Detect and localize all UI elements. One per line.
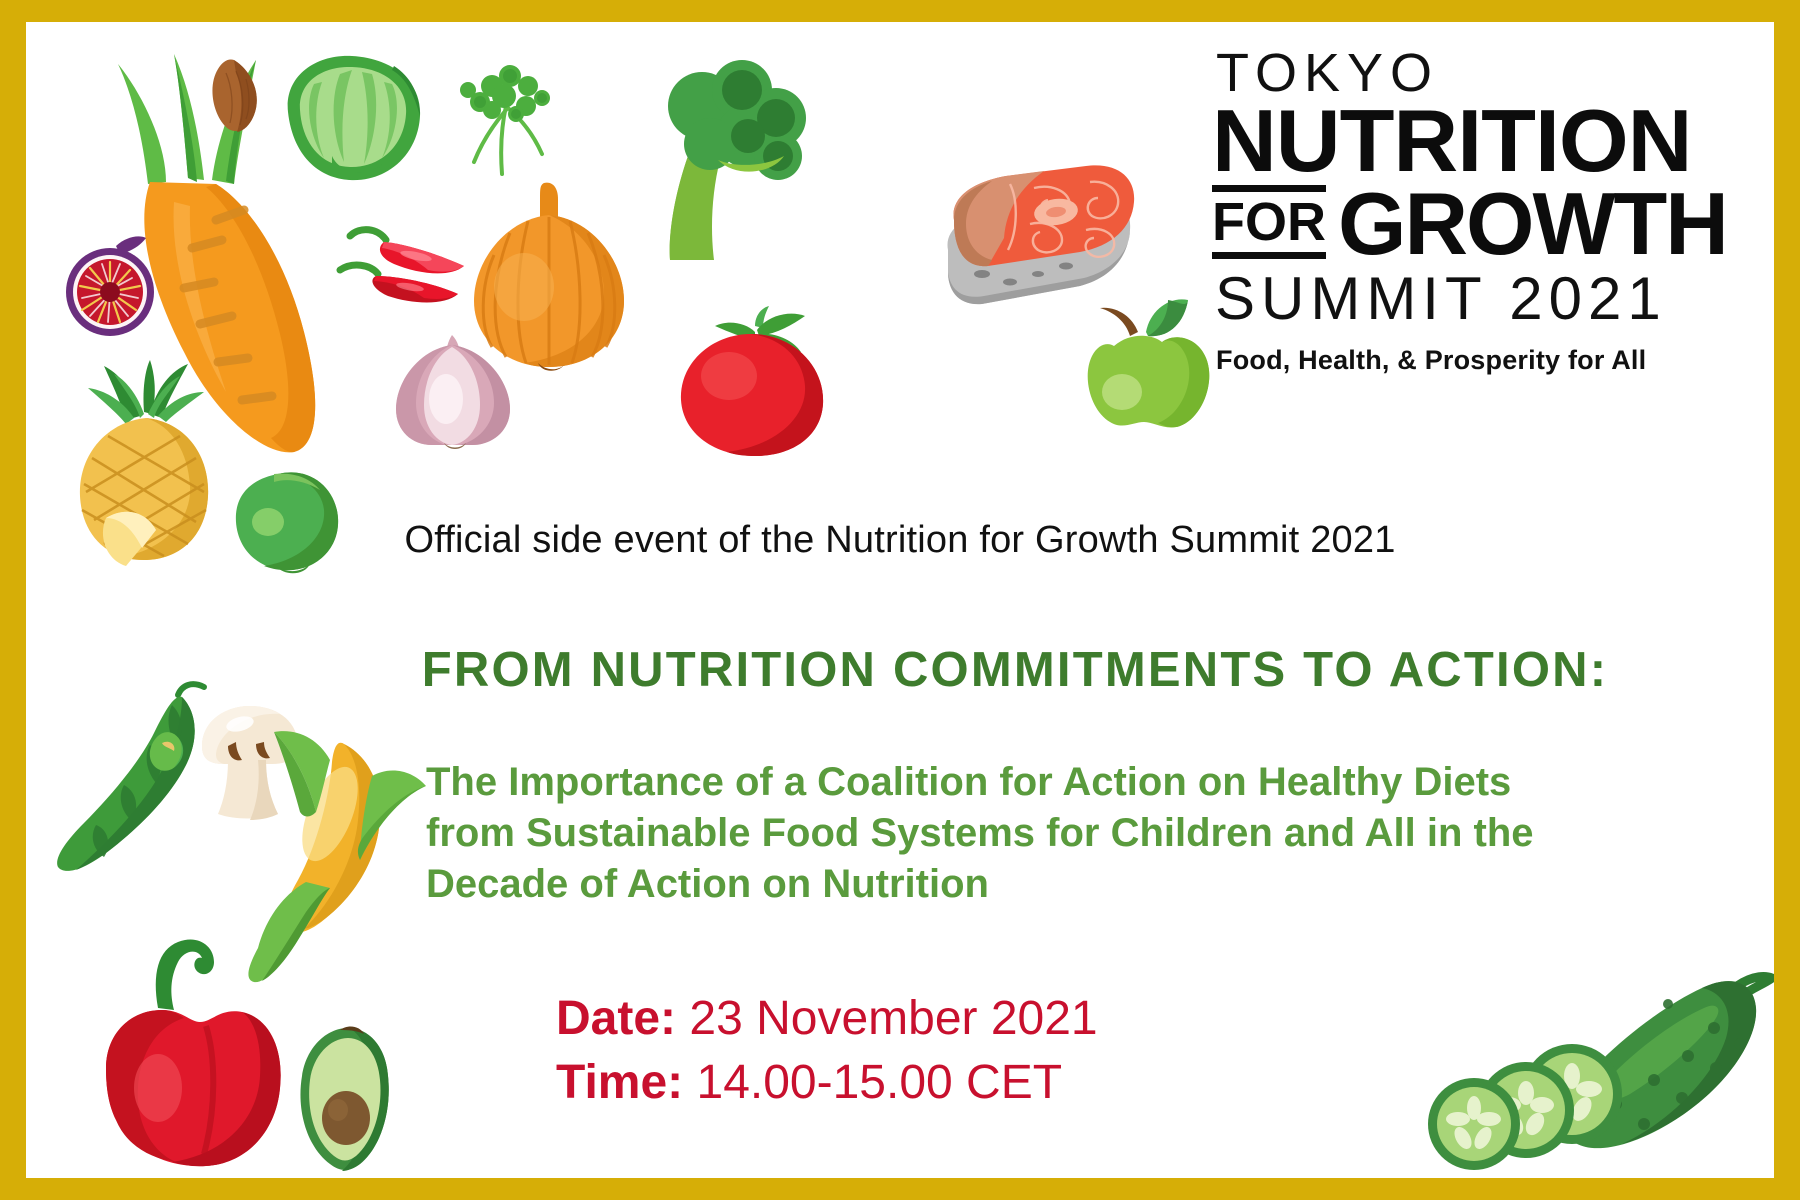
red-bell-pepper-illustration bbox=[66, 930, 296, 1170]
logo-bar-bottom bbox=[1212, 252, 1326, 259]
poster-canvas: TOKYO NUTRITION FOR GROWTH SUMMIT 2021 F… bbox=[26, 22, 1774, 1178]
description-line-3: Decade of Action on Nutrition bbox=[426, 859, 1586, 910]
logo-for-growth-row: FOR GROWTH bbox=[1212, 184, 1732, 263]
cabbage-illustration bbox=[274, 50, 429, 190]
broccoli-illustration bbox=[626, 60, 816, 270]
description-line-1: The Importance of a Coalition for Action… bbox=[426, 757, 1586, 808]
logo-for-text: FOR bbox=[1212, 192, 1326, 252]
avocado-half-illustration bbox=[288, 1022, 408, 1177]
parsley-illustration bbox=[444, 62, 574, 182]
event-headline: FROM NUTRITION COMMITMENTS TO ACTION: bbox=[276, 642, 1754, 698]
date-value: 23 November 2021 bbox=[676, 992, 1098, 1045]
logo-summit-text: SUMMIT 2021 bbox=[1215, 269, 1732, 329]
description-line-2: from Sustainable Food Systems for Childr… bbox=[426, 808, 1586, 859]
logo-tagline: Food, Health, & Prosperity for All bbox=[1216, 345, 1732, 376]
tomato-illustration bbox=[671, 300, 831, 460]
green-apple-illustration bbox=[1076, 284, 1216, 434]
event-datetime: Date: 23 November 2021 Time: 14.00-15.00… bbox=[556, 987, 1098, 1115]
logo-nutrition-text: NUTRITION bbox=[1212, 101, 1742, 182]
event-time-row: Time: 14.00-15.00 CET bbox=[556, 1051, 1098, 1115]
fig-half-illustration bbox=[62, 230, 162, 340]
time-value: 14.00-15.00 CET bbox=[683, 1056, 1062, 1109]
logo-growth-text: GROWTH bbox=[1338, 184, 1727, 263]
time-label: Time: bbox=[556, 1056, 683, 1109]
cucumber-illustration bbox=[1416, 952, 1774, 1178]
logo-for-block: FOR bbox=[1212, 185, 1326, 263]
event-date-row: Date: 23 November 2021 bbox=[556, 987, 1098, 1051]
almond-illustration bbox=[204, 57, 264, 135]
garlic-illustration bbox=[388, 327, 518, 452]
chili-peppers-illustration bbox=[326, 222, 476, 312]
event-description: The Importance of a Coalition for Action… bbox=[426, 757, 1586, 911]
nutrition-for-growth-logo: TOKYO NUTRITION FOR GROWTH SUMMIT 2021 F… bbox=[1212, 48, 1732, 376]
date-label: Date: bbox=[556, 992, 676, 1045]
event-poster: TOKYO NUTRITION FOR GROWTH SUMMIT 2021 F… bbox=[0, 0, 1800, 1200]
event-subtitle: Official side event of the Nutrition for… bbox=[26, 519, 1774, 562]
